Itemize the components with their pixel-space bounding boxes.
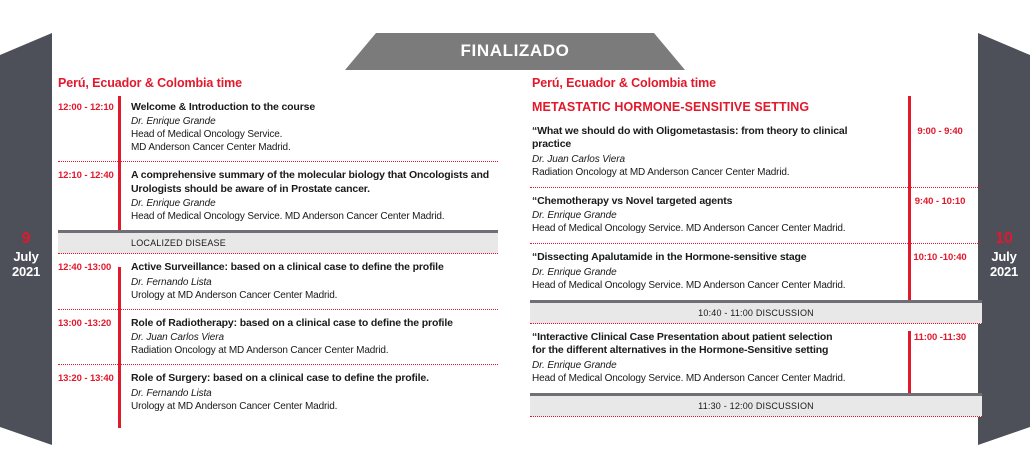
agenda-row-time: 11:00 -11:30 xyxy=(898,331,982,343)
discussion-band-1: 10:40 - 11:00 DISCUSSION xyxy=(530,300,982,324)
agenda-row-title: Welcome & Introduction to the course xyxy=(131,101,498,114)
agenda-row: 13:00 -13:20 Role of Radiotherapy: based… xyxy=(58,310,498,365)
right-column-title: Perú, Ecuador & Colombia time xyxy=(530,76,982,90)
agenda-row-speaker: Dr. Enrique Grande xyxy=(532,266,886,279)
agenda-row-speaker: Dr. Enrique Grande xyxy=(532,209,886,222)
agenda-row: 13:20 - 13:40 Role of Surgery: based on … xyxy=(58,365,498,419)
agenda-row-affiliation: Radiation Oncology at MD Anderson Cancer… xyxy=(532,166,886,179)
agenda-row-body: A comprehensive summary of the molecular… xyxy=(120,169,498,223)
agenda-row-title: “Dissecting Apalutamide in the Hormone-s… xyxy=(532,251,886,264)
agenda-row-affiliation: Head of Medical Oncology Service. MD And… xyxy=(532,372,886,385)
agenda-row-body: Welcome & Introduction to the course Dr.… xyxy=(120,101,498,154)
agenda-column-day9: Perú, Ecuador & Colombia time 12:00 - 12… xyxy=(58,76,498,420)
agenda-row-affiliation: Head of Medical Oncology Service. MD And… xyxy=(131,210,498,223)
agenda-row-body: Role of Radiotherapy: based on a clinica… xyxy=(120,317,498,357)
agenda-page: 9 July 2021 10 July 2021 FINALIZADO Perú… xyxy=(0,0,1030,450)
section-band-label: LOCALIZED DISEASE xyxy=(58,238,226,248)
agenda-row-speaker: Dr. Juan Carlos Viera xyxy=(532,153,886,166)
agenda-row-title: A comprehensive summary of the molecular… xyxy=(131,169,498,196)
agenda-row-body: “Dissecting Apalutamide in the Hormone-s… xyxy=(530,251,898,291)
agenda-column-day10: Perú, Ecuador & Colombia time METASTATIC… xyxy=(530,76,982,417)
date-tab-left-inner: 9 July 2021 xyxy=(0,230,52,280)
agenda-row-time: 9:40 - 10:10 xyxy=(898,195,982,207)
agenda-row: “Dissecting Apalutamide in the Hormone-s… xyxy=(530,244,982,299)
agenda-row-title: Role of Surgery: based on a clinical cas… xyxy=(131,372,498,385)
agenda-row-speaker: Dr. Enrique Grande xyxy=(532,359,886,372)
discussion-band-2: 11:30 - 12:00 DISCUSSION xyxy=(530,393,982,417)
agenda-row-time: 12:10 - 12:40 xyxy=(58,169,120,181)
agenda-row-time: 12:00 - 12:10 xyxy=(58,101,120,113)
agenda-row-speaker: Dr. Enrique Grande xyxy=(131,115,498,128)
agenda-row-affiliation: Urology at MD Anderson Cancer Center Mad… xyxy=(131,289,498,302)
agenda-row-body: “What we should do with Oligometastasis:… xyxy=(530,125,898,179)
date-tab-right-inner: 10 July 2021 xyxy=(978,230,1030,280)
agenda-row-title: Active Surveillance: based on a clinical… xyxy=(131,261,498,274)
agenda-row: “What we should do with Oligometastasis:… xyxy=(530,118,982,188)
agenda-row-title: “Interactive Clinical Case Presentation … xyxy=(532,331,886,344)
date-tab-right-month: July xyxy=(978,249,1030,264)
agenda-row-title-2: for the different alternatives in the Ho… xyxy=(532,344,886,357)
left-column-title: Perú, Ecuador & Colombia time xyxy=(58,76,498,90)
agenda-row-title: Role of Radiotherapy: based on a clinica… xyxy=(131,317,498,330)
agenda-row-affiliation: Head of Medical Oncology Service. MD And… xyxy=(532,222,886,235)
status-banner: FINALIZADO xyxy=(345,33,685,70)
agenda-row-time: 10:10 -10:40 xyxy=(898,251,982,263)
date-tab-right-year: 2021 xyxy=(978,264,1030,279)
agenda-row-body: “Chemotherapy vs Novel targeted agents D… xyxy=(530,195,898,235)
agenda-row-body: “Interactive Clinical Case Presentation … xyxy=(530,331,898,385)
date-tab-left-day: 9 xyxy=(0,230,52,249)
agenda-row-speaker: Dr. Enrique Grande xyxy=(131,197,498,210)
agenda-row-speaker: Dr. Fernando Lista xyxy=(131,276,498,289)
agenda-row-affiliation: Head of Medical Oncology Service. MD And… xyxy=(532,279,886,292)
date-tab-left-year: 2021 xyxy=(0,264,52,279)
date-tab-left: 9 July 2021 xyxy=(0,33,52,445)
agenda-row-body: Active Surveillance: based on a clinical… xyxy=(120,261,498,301)
date-tab-right: 10 July 2021 xyxy=(978,33,1030,445)
agenda-row-time: 12:40 -13:00 xyxy=(58,261,120,273)
agenda-row-affiliation-2: MD Anderson Cancer Center Madrid. xyxy=(131,141,498,154)
agenda-row-title: “What we should do with Oligometastasis:… xyxy=(532,125,886,152)
discussion-band-1-label: 10:40 - 11:00 DISCUSSION xyxy=(698,308,814,318)
date-tab-right-day: 10 xyxy=(978,230,1030,249)
agenda-row-affiliation: Radiation Oncology at MD Anderson Cancer… xyxy=(131,344,498,357)
agenda-row-title: “Chemotherapy vs Novel targeted agents xyxy=(532,195,886,208)
section-band-localized-disease: LOCALIZED DISEASE xyxy=(58,230,498,254)
agenda-row: 12:40 -13:00 Active Surveillance: based … xyxy=(58,254,498,309)
agenda-row-speaker: Dr. Juan Carlos Viera xyxy=(131,331,498,344)
agenda-row: “Interactive Clinical Case Presentation … xyxy=(530,324,982,393)
agenda-row: “Chemotherapy vs Novel targeted agents D… xyxy=(530,188,982,244)
agenda-row-time: 13:20 - 13:40 xyxy=(58,372,120,384)
agenda-row-speaker: Dr. Fernando Lista xyxy=(131,387,498,400)
agenda-row-time: 9:00 - 9:40 xyxy=(898,125,982,137)
agenda-row-affiliation: Head of Medical Oncology Service. xyxy=(131,128,498,141)
agenda-row-affiliation: Urology at MD Anderson Cancer Center Mad… xyxy=(131,400,498,413)
agenda-row-time: 13:00 -13:20 xyxy=(58,317,120,329)
agenda-row-body: Role of Surgery: based on a clinical cas… xyxy=(120,372,498,412)
agenda-row: 12:10 - 12:40 A comprehensive summary of… xyxy=(58,162,498,230)
right-column-section-title: METASTATIC HORMONE-SENSITIVE SETTING xyxy=(532,100,982,114)
agenda-row: 12:00 - 12:10 Welcome & Introduction to … xyxy=(58,94,498,162)
date-tab-left-month: July xyxy=(0,249,52,264)
discussion-band-2-label: 11:30 - 12:00 DISCUSSION xyxy=(698,401,814,411)
